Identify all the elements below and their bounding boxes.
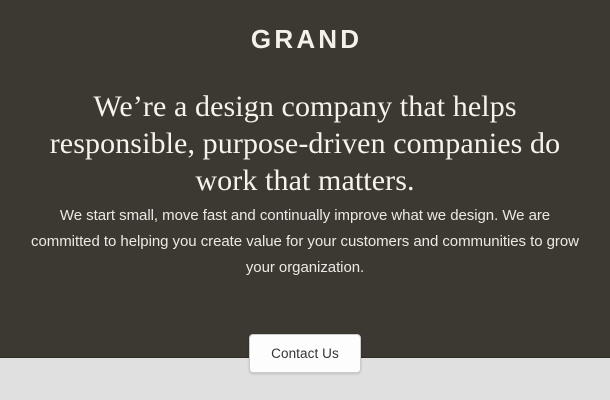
landing-page: GRAND We’re a design company that helps …	[0, 0, 610, 400]
hero-subcopy: We start small, move fast and continuall…	[24, 203, 586, 281]
hero-section: GRAND We’re a design company that helps …	[0, 0, 610, 358]
brand-header: GRAND	[0, 26, 610, 53]
contact-us-button[interactable]: Contact Us	[249, 334, 361, 373]
cta-container: Contact Us	[0, 334, 610, 373]
page-title: We’re a design company that helps respon…	[22, 88, 588, 199]
brand-logo[interactable]: GRAND	[248, 26, 363, 52]
